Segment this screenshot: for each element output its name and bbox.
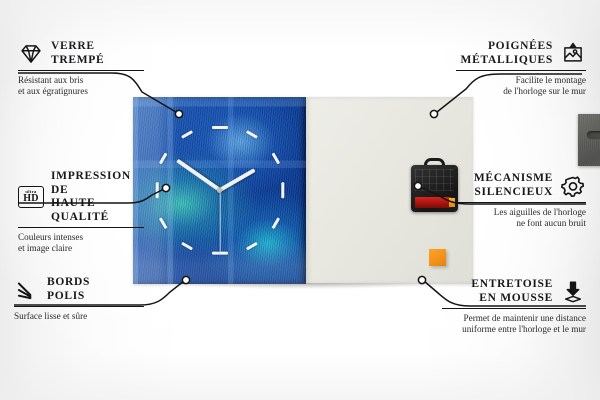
callout-title-line2: EN MOUSSE [471, 292, 553, 306]
callout-subtitle-line1: Les aiguilles de l'horloge [452, 207, 586, 218]
battery [415, 197, 451, 208]
mechanism-body [411, 165, 458, 212]
clock-center-cap [217, 188, 222, 193]
callout-rule [452, 202, 586, 203]
callout-rule [18, 70, 144, 71]
foam-spacer [429, 249, 446, 266]
callout-subtitle-line2: et image claire [18, 243, 144, 254]
clock-tick [212, 126, 228, 129]
callout-title-line2: TREMPÉ [51, 54, 104, 68]
callout-subtitle-line1: Couleurs intenses [18, 232, 144, 243]
callout-subtitle-line1: Résistant aux bris [18, 75, 144, 86]
clock-second-hand [219, 190, 220, 252]
callout-entretoise-en-mousse: ENTRETOISE EN MOUSSE Permet de maintenir… [442, 278, 586, 336]
polished-edges-icon [14, 277, 40, 303]
callout-title-line2: MÉTALLIQUES [461, 54, 553, 68]
callout-title-line1: VERRE [51, 40, 104, 54]
metal-hanger-plate [578, 114, 600, 166]
callout-poignees-metalliques: POIGNÉES MÉTALLIQUES Facilite le montage… [456, 40, 586, 98]
callout-subtitle-line2: et aux égratignures [18, 86, 144, 97]
callout-title-line2: HAUTE QUALITÉ [51, 197, 144, 224]
callout-title-line1: MÉCANISME [474, 172, 553, 186]
callout-subtitle-line1: Facilite le montage [456, 75, 586, 86]
infographic-stage: VERRE TREMPÉ Résistant aux bris et aux é… [0, 0, 600, 400]
callout-title-line2: POLIS [47, 290, 90, 304]
callout-rule [456, 70, 586, 71]
callout-impression-haute-qualite: ultra HD IMPRESSION DE HAUTE QUALITÉ Cou… [18, 170, 144, 255]
callout-rule [18, 227, 144, 228]
callout-rule [442, 308, 586, 309]
product-shadow [137, 283, 473, 292]
callout-subtitle-line1: Surface lisse et sûre [14, 311, 144, 322]
callout-subtitle-line2: de l'horloge sur le mur [456, 86, 586, 97]
hanger-slot [587, 131, 600, 139]
diamond-icon [18, 41, 44, 67]
callout-title-line2: SILENCIEUX [474, 186, 553, 200]
callout-subtitle-line2: uniforme entre l'horloge et le mur [442, 324, 586, 335]
hanging-frame-icon [560, 41, 586, 67]
clock-back-panel [306, 97, 473, 284]
clock-tick [281, 182, 284, 198]
callout-title-line1: POIGNÉES [461, 40, 553, 54]
foam-spacer-icon [560, 279, 586, 305]
callout-subtitle-line1: Permet de maintenir une distance [442, 313, 586, 324]
clock-tick [155, 182, 158, 198]
callout-mecanisme-silencieux: MÉCANISME SILENCIEUX Les aiguilles de l'… [452, 172, 586, 230]
clock-mechanism [411, 165, 458, 212]
ultra-hd-icon-bottom: HD [23, 194, 39, 204]
callout-title-line1: ENTRETOISE [471, 278, 553, 292]
ultra-hd-icon: ultra HD [18, 186, 44, 208]
clock-front-panel [133, 97, 306, 284]
callout-title-line1: BORDS [47, 276, 90, 290]
product-image [133, 97, 473, 284]
callout-rule [14, 306, 144, 307]
callout-verre-trempe: VERRE TREMPÉ Résistant aux bris et aux é… [18, 40, 144, 98]
mechanism-grid [415, 169, 454, 191]
callout-bords-polis: BORDS POLIS Surface lisse et sûre [14, 276, 144, 322]
gear-icon [560, 173, 586, 199]
callout-subtitle-line2: ne font aucun bruit [452, 218, 586, 229]
callout-title-line1: IMPRESSION DE [51, 170, 144, 197]
